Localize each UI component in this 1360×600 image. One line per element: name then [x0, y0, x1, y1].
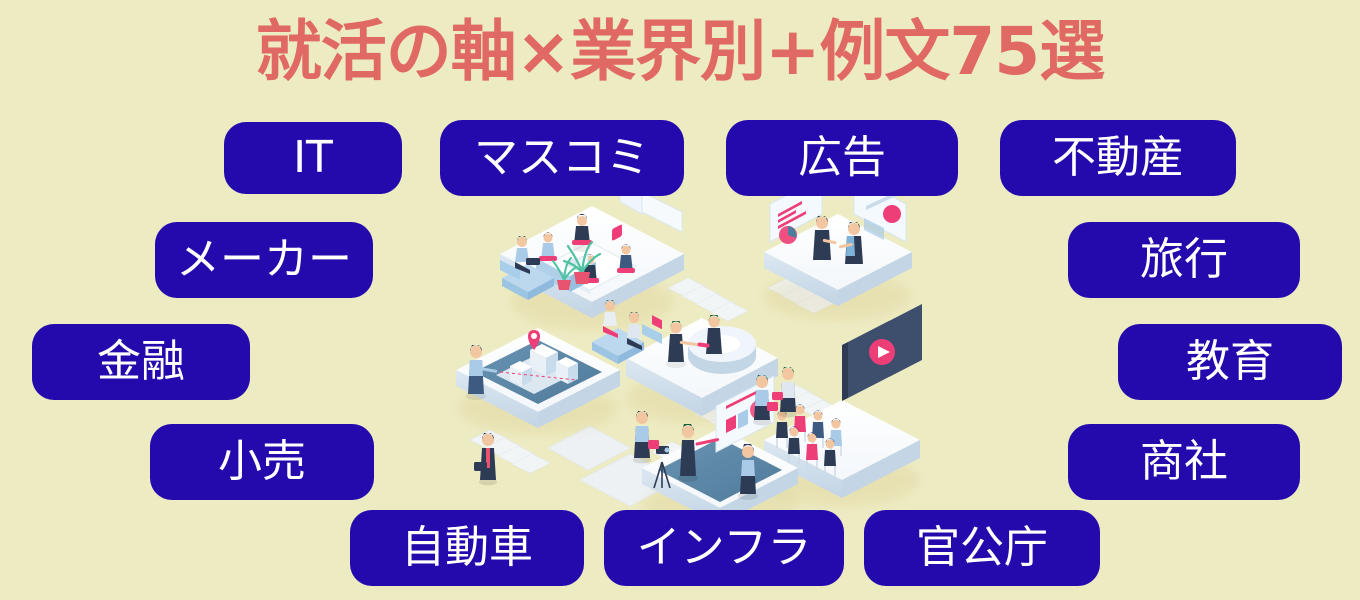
isometric-business-scenes-illustration — [430, 180, 950, 540]
industry-tag-koukoku[interactable]: 広告 — [726, 120, 958, 196]
industry-tag-kinyuu[interactable]: 金融 — [32, 324, 250, 400]
industry-tag-kouri[interactable]: 小売 — [150, 424, 374, 500]
page-title: 就活の軸×業界別+例文75選 — [0, 16, 1360, 88]
scene-handshake-deal — [764, 180, 912, 320]
industry-tag-kyouiku[interactable]: 教育 — [1118, 324, 1342, 400]
industry-tag-jidousha[interactable]: 自動車 — [350, 510, 584, 586]
industry-tag-shousha[interactable]: 商社 — [1068, 424, 1300, 500]
poster-canvas: 就活の軸×業界別+例文75選 — [0, 0, 1360, 600]
industry-tag-fudousan[interactable]: 不動産 — [1000, 120, 1236, 196]
industry-tag-kankouchou[interactable]: 官公庁 — [864, 510, 1100, 586]
industry-tag-meekaa[interactable]: メーカー — [155, 222, 373, 298]
industry-tag-ryokou[interactable]: 旅行 — [1068, 222, 1300, 298]
industry-tag-masukomi[interactable]: マスコミ — [440, 120, 684, 196]
industry-tag-infura[interactable]: インフラ — [604, 510, 844, 586]
industry-tag-it[interactable]: IT — [224, 122, 402, 194]
